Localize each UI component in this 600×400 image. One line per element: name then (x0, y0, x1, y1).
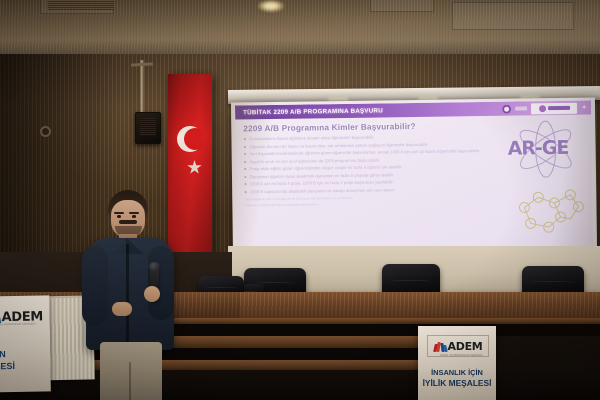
banner-left: ADEM KADIN VE DEMOKRASİ DERNEĞİ IK İÇİN … (0, 295, 51, 392)
presenter-shirt-placket (126, 244, 129, 344)
banner-center: ADEM KADIN VE DEMOKRASİ DERNEĞİ İNSANLIK… (418, 326, 496, 400)
arge-wordmark: AR-GE (507, 137, 568, 160)
banner-left-slogan: IK İÇİN EŞALESİ (0, 348, 15, 373)
speaker-box-icon (135, 112, 161, 144)
slide-header-title: TÜBİTAK 2209 A/B PROGRAMINA BAŞVURU (243, 107, 383, 116)
bullet-dot-icon: ● (243, 136, 246, 142)
ceiling-vent (48, 0, 114, 10)
presenter-mustache (119, 220, 137, 224)
ceiling (0, 0, 600, 62)
bullet-dot-icon: ● (244, 166, 247, 172)
slide-bullet-text: 2209 B kapsamında akademik danışman ve s… (250, 187, 395, 195)
ceiling-light (258, 0, 284, 12)
slide-footnote: ** Başvuru tarihinde aktif öğrenci olma … (244, 200, 494, 208)
presenter-hand-left (112, 302, 132, 316)
sparkle-icon: ✦ (581, 104, 587, 111)
stage-table (232, 292, 600, 320)
arge-graphic: AR-GE (503, 119, 589, 238)
bullet-dot-icon: ● (244, 189, 247, 195)
presentation-slide: TÜBİTAK 2209 A/B PROGRAMINA BAŞVURU ✦ 22… (235, 101, 593, 252)
kadem-mark-icon (434, 341, 447, 352)
banner-left-slogan-line2: EŞALESİ (0, 360, 15, 373)
slide-header-logos: ✦ (502, 102, 587, 115)
presenter (82, 190, 194, 400)
kadem-subtitle-center: KADIN VE DEMOKRASİ DERNEĞİ (440, 354, 483, 357)
presenter-hand-right (144, 286, 160, 302)
molecule-icon (519, 190, 584, 233)
ceiling-panel (452, 2, 574, 30)
presenter-brow (129, 212, 139, 214)
institution-logo-icon (531, 102, 577, 114)
presenter-pants-seam (129, 362, 131, 400)
tubitak-wordmark-icon (515, 106, 527, 110)
slide-bullet-text: Hazırlık sınıfı ve son sınıf öğrencileri… (250, 157, 381, 165)
bullet-dot-icon: ● (244, 174, 247, 180)
presenter-arm-left (82, 246, 108, 326)
presenter-brow (114, 212, 124, 214)
microphone-head-icon (149, 262, 160, 271)
bullet-dot-icon: ● (244, 181, 247, 187)
kadem-wordmark-center: ADEM (448, 340, 483, 353)
banner-center-slogan: İNSANLIK İÇİN İYİLİK MEŞALESİ (418, 368, 496, 388)
banner-center-slogan-line1: İNSANLIK İÇİN (418, 368, 496, 378)
presenter-eye (132, 215, 136, 218)
banner-center-slogan-line2: İYİLİK MEŞALESİ (418, 378, 496, 388)
screenshot-root: TÜBİTAK 2209 A/B PROGRAMINA BAŞVURU ✦ 22… (0, 0, 600, 400)
slide-body: 2209 A/B Programına Kimler Başvurabilir?… (235, 115, 593, 251)
banner-left-slogan-line1: IK İÇİN (0, 348, 15, 361)
ceiling-panel (370, 0, 434, 12)
presenter-eye (117, 215, 121, 218)
bullet-dot-icon: ● (244, 144, 247, 150)
tubitak-logo-icon (502, 104, 511, 113)
bullet-dot-icon: ● (244, 151, 247, 157)
slide-bullet-text: Üniversitelerin lisans eğitimine devam e… (249, 135, 374, 143)
projection-screen: TÜBİTAK 2209 A/B PROGRAMINA BAŞVURU ✦ 22… (231, 97, 597, 254)
wall-speaker-icon (40, 126, 51, 137)
table-texture (232, 292, 600, 320)
bullet-dot-icon: ● (244, 159, 247, 165)
kadem-subtitle-left: KADIN VE DEMOKRASİ DERNEĞİ (0, 323, 36, 327)
presenter-pants (100, 342, 162, 400)
